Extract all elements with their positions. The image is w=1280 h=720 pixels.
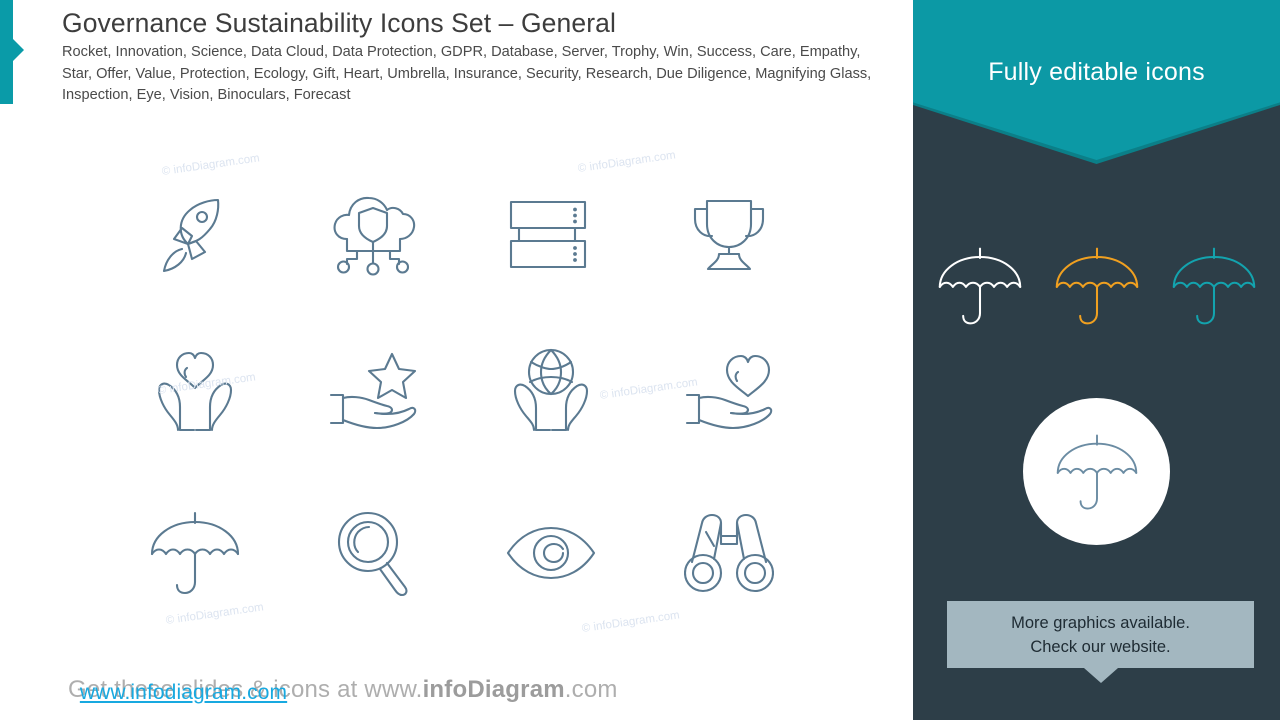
hands-heart-icon[interactable] xyxy=(120,336,270,446)
data-cloud-shield-icon[interactable] xyxy=(298,180,448,290)
umbrella-icon-badge xyxy=(1051,430,1143,514)
title-block: Governance Sustainability Icons Set – Ge… xyxy=(62,6,902,107)
umbrella-color-variants xyxy=(913,243,1280,329)
watermark: © infoDiagram.com xyxy=(577,149,676,175)
umbrella-circle-badge[interactable] xyxy=(1023,398,1170,545)
watermark: © infoDiagram.com xyxy=(581,609,680,635)
left-accent-arrow-icon xyxy=(13,39,24,61)
more-graphics-callout: More graphics available. Check our websi… xyxy=(947,601,1254,668)
footer-brand: infoDiagram xyxy=(423,676,565,703)
rocket-icon[interactable] xyxy=(120,180,270,290)
callout-line-2: Check our website. xyxy=(947,635,1254,659)
umbrella-icon-white[interactable] xyxy=(932,243,1028,329)
slide-canvas: Governance Sustainability Icons Set – Ge… xyxy=(0,0,1280,720)
hands-globe-icon[interactable] xyxy=(476,336,626,446)
callout-line-1: More graphics available. xyxy=(947,611,1254,635)
watermark: © infoDiagram.com xyxy=(161,152,260,178)
magnifying-glass-icon[interactable] xyxy=(298,498,448,608)
eye-icon[interactable] xyxy=(476,498,626,608)
page-title: Governance Sustainability Icons Set – Ge… xyxy=(62,6,902,40)
umbrella-icon[interactable] xyxy=(120,498,270,608)
hand-star-icon[interactable] xyxy=(298,336,448,446)
callout-tail-pointer xyxy=(1084,668,1118,683)
icon-grid xyxy=(120,180,820,610)
hand-heart-icon[interactable] xyxy=(654,336,804,446)
trophy-icon[interactable] xyxy=(654,180,804,290)
sidebar-title: Fully editable icons xyxy=(913,58,1280,87)
binoculars-icon[interactable] xyxy=(654,498,804,608)
umbrella-icon-orange[interactable] xyxy=(1049,243,1145,329)
umbrella-icon-teal[interactable] xyxy=(1166,243,1262,329)
page-subtitle: Rocket, Innovation, Science, Data Cloud,… xyxy=(62,42,890,107)
website-link[interactable]: www.infodiagram.com xyxy=(0,681,367,705)
footer-suffix: .com xyxy=(565,676,618,703)
left-accent-bar xyxy=(0,0,13,104)
server-database-icon[interactable] xyxy=(476,180,626,290)
